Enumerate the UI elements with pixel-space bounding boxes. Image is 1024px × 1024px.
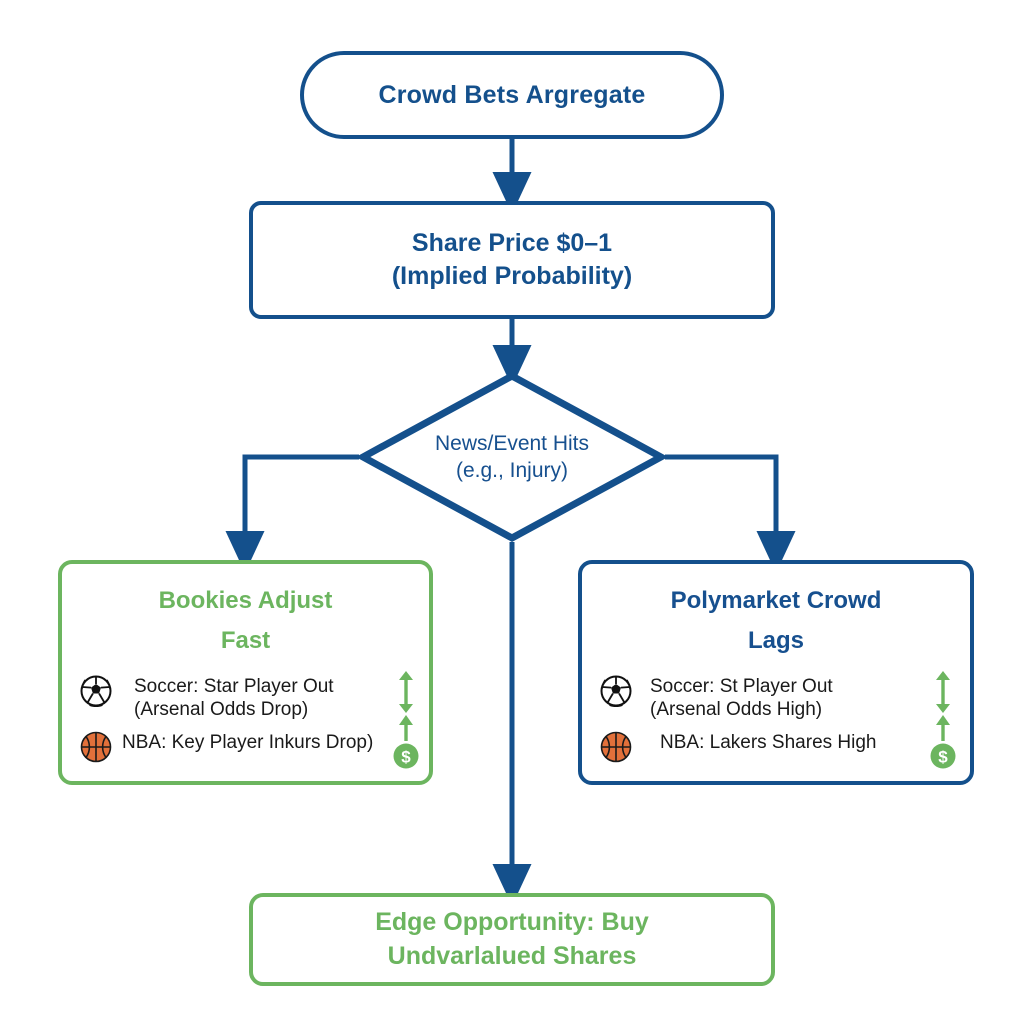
up-arrow-icon — [929, 714, 957, 742]
node-price-line1: Share Price $0–1 — [412, 227, 612, 260]
node-bookies-title-line1: Bookies Adjust — [62, 578, 429, 618]
connector-decision-to-polymarket — [665, 457, 776, 552]
node-edge-line2: Undvarlalued Shares — [388, 940, 637, 974]
node-bookies-title-line2: Fast — [62, 618, 429, 658]
node-decision-line1: News/Event Hits — [435, 430, 589, 457]
up-down-arrow-icon — [929, 670, 957, 714]
node-start-label: Crowd Bets Argregate — [378, 81, 645, 110]
basketball-icon — [80, 731, 112, 763]
bookies-bullet-1-text: Soccer: Star Player Out (Arsenal Odds Dr… — [122, 674, 334, 721]
connector-decision-to-bookies — [245, 457, 359, 552]
polymarket-bullet-1-text: Soccer: St Player Out (Arsenal Odds High… — [642, 674, 833, 721]
basketball-icon — [600, 731, 632, 763]
up-down-arrow-icon — [392, 670, 420, 714]
up-arrow-icon — [392, 714, 420, 742]
node-crowd-bets-aggregate[interactable]: Crowd Bets Argregate — [300, 51, 724, 139]
list-item: Soccer: Star Player Out (Arsenal Odds Dr… — [80, 674, 419, 721]
dollar-circle-icon: $ — [929, 742, 957, 770]
polymarket-bullet-2-text: NBA: Lakers Shares High — [642, 730, 877, 754]
dollar-circle-icon: $ — [392, 742, 420, 770]
soccer-ball-icon — [80, 675, 112, 707]
svg-text:$: $ — [401, 748, 411, 767]
node-bookies-adjust-fast[interactable]: Bookies Adjust Fast — [58, 560, 433, 785]
node-price-line2: (Implied Probability) — [392, 260, 632, 293]
node-decision-news-event[interactable]: News/Event Hits (e.g., Injury) — [359, 372, 665, 542]
list-item: NBA: Key Player Inkurs Drop) — [80, 730, 419, 763]
node-edge-opportunity[interactable]: Edge Opportunity: Buy Undvarlalued Share… — [249, 893, 775, 986]
node-polymarket-body: Soccer: St Player Out (Arsenal Odds High… — [582, 674, 970, 762]
node-polymarket-title-line2: Lags — [582, 618, 970, 658]
bookies-bullet-2-text: NBA: Key Player Inkurs Drop) — [122, 730, 373, 754]
node-decision-line2: (e.g., Injury) — [456, 457, 568, 484]
node-share-price[interactable]: Share Price $0–1 (Implied Probability) — [249, 201, 775, 319]
svg-text:$: $ — [938, 748, 948, 767]
list-item: Soccer: St Player Out (Arsenal Odds High… — [600, 674, 960, 721]
polymarket-indicator-cluster: $ — [926, 670, 960, 770]
node-bookies-body: Soccer: Star Player Out (Arsenal Odds Dr… — [62, 674, 429, 762]
node-edge-line1: Edge Opportunity: Buy — [375, 906, 649, 940]
node-polymarket-title-line1: Polymarket Crowd — [582, 578, 970, 618]
soccer-ball-icon — [600, 675, 632, 707]
list-item: NBA: Lakers Shares High — [600, 730, 960, 763]
node-polymarket-crowd-lags[interactable]: Polymarket Crowd Lags — [578, 560, 974, 785]
bookies-indicator-cluster: $ — [389, 670, 423, 770]
flowchart-canvas: Crowd Bets Argregate Share Price $0–1 (I… — [0, 0, 1024, 1024]
